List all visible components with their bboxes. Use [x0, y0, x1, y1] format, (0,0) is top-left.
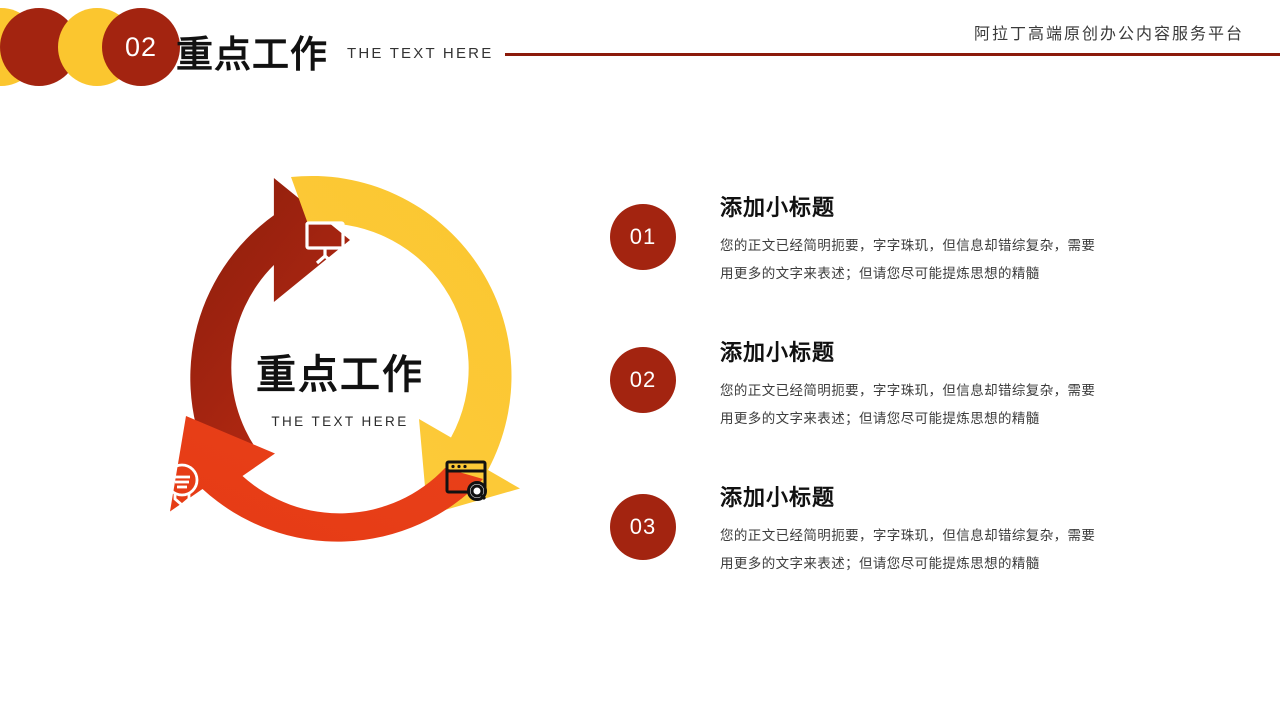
item-body: 添加小标题 您的正文已经简明扼要，字字珠玑，但信息却错综复杂，需要 用更多的文字…: [720, 480, 1180, 577]
item-description: 您的正文已经简明扼要，字字珠玑，但信息却错综复杂，需要 用更多的文字来表述；但请…: [720, 377, 1180, 432]
item-description-line: 您的正文已经简明扼要，字字珠玑，但信息却错综复杂，需要: [720, 522, 1180, 550]
item-body: 添加小标题 您的正文已经简明扼要，字字珠玑，但信息却错综复杂，需要 用更多的文字…: [720, 335, 1180, 432]
item-number-badge: 03: [610, 494, 676, 560]
item-description: 您的正文已经简明扼要，字字珠玑，但信息却错综复杂，需要 用更多的文字来表述；但请…: [720, 522, 1180, 577]
item-description-line: 用更多的文字来表述；但请您尽可能提炼思想的精髓: [720, 260, 1180, 288]
slide-header: 02 重点工作 THE TEXT HERE 阿拉丁高端原创办公内容服务平台: [0, 0, 1280, 95]
content-list: 01 添加小标题 您的正文已经简明扼要，字字珠玑，但信息却错综复杂，需要 用更多…: [610, 190, 1210, 625]
item-description-line: 用更多的文字来表述；但请您尽可能提炼思想的精髓: [720, 550, 1180, 578]
page-subtitle: THE TEXT HERE: [347, 45, 493, 62]
item-description-line: 用更多的文字来表述；但请您尽可能提炼思想的精髓: [720, 405, 1180, 433]
cycle-diagram-svg: [110, 155, 570, 615]
item-title: 添加小标题: [720, 335, 1180, 367]
header-section-number: 02: [102, 8, 180, 86]
cycle-diagram: 重点工作 THE TEXT HERE: [110, 155, 570, 615]
item-description: 您的正文已经简明扼要，字字珠玑，但信息却错综复杂，需要 用更多的文字来表述；但请…: [720, 232, 1180, 287]
item-description-line: 您的正文已经简明扼要，字字珠玑，但信息却错综复杂，需要: [720, 232, 1180, 260]
item-title: 添加小标题: [720, 190, 1180, 222]
header-divider: [505, 53, 1280, 56]
list-item[interactable]: 02 添加小标题 您的正文已经简明扼要，字字珠玑，但信息却错综复杂，需要 用更多…: [610, 335, 1210, 480]
item-title: 添加小标题: [720, 480, 1180, 512]
brand-label: 阿拉丁高端原创办公内容服务平台: [974, 20, 1244, 44]
item-body: 添加小标题 您的正文已经简明扼要，字字珠玑，但信息却错综复杂，需要 用更多的文字…: [720, 190, 1180, 287]
page-title: 重点工作: [176, 24, 328, 78]
list-item[interactable]: 03 添加小标题 您的正文已经简明扼要，字字珠玑，但信息却错综复杂，需要 用更多…: [610, 480, 1210, 625]
item-number-badge: 01: [610, 204, 676, 270]
list-item[interactable]: 01 添加小标题 您的正文已经简明扼要，字字珠玑，但信息却错综复杂，需要 用更多…: [610, 190, 1210, 335]
item-number-badge: 02: [610, 347, 676, 413]
item-description-line: 您的正文已经简明扼要，字字珠玑，但信息却错综复杂，需要: [720, 377, 1180, 405]
